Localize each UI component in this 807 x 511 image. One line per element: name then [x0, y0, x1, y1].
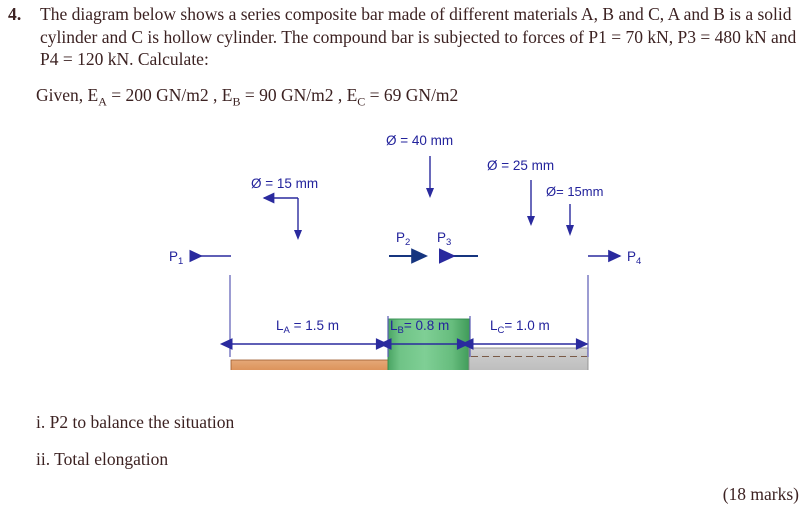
given-value-a: = 200 GN/m2 , E: [107, 85, 233, 105]
force-p2-label: P2: [396, 230, 410, 248]
force-p4-label: P4: [627, 249, 641, 267]
diameter-annotation-c-outer: Ø = 25 mm: [487, 158, 554, 226]
marks-label: (18 marks): [723, 484, 799, 505]
force-arrow-p3: P3: [437, 230, 478, 256]
diameter-annotation-a: Ø = 15 mm: [251, 176, 318, 240]
diameter-c-inner-label: Ø= 15mm: [546, 184, 603, 199]
dimension-length-c: LC= 1.0 m: [472, 318, 587, 344]
given-line: Given, EA = 200 GN/m2 , EB = 90 GN/m2 , …: [36, 84, 458, 106]
given-value-b: = 90 GN/m2 , E: [240, 85, 357, 105]
dimension-length-a: LA = 1.5 m: [231, 318, 387, 344]
question-body: The diagram below shows a series composi…: [40, 3, 802, 71]
bar-a-label: A: [303, 369, 313, 370]
composite-bar-diagram: A B C Ø = 15 mm Ø = 40 mm Ø = 25 mm Ø= 1…: [0, 120, 807, 370]
question-number: 4.: [8, 4, 21, 25]
diameter-b-label: Ø = 40 mm: [386, 133, 453, 148]
length-a-label: LA = 1.5 m: [276, 318, 339, 336]
diameter-annotation-c-inner: Ø= 15mm: [546, 184, 603, 236]
diameter-annotation-b: Ø = 40 mm: [386, 133, 453, 198]
bar-segment-a: A: [231, 360, 390, 370]
bar-c-label: C: [519, 367, 529, 370]
force-arrow-p2: P2: [389, 230, 426, 256]
force-p3-label: P3: [437, 230, 451, 248]
force-p1-label: P1: [169, 249, 183, 267]
diameter-a-label: Ø = 15 mm: [251, 176, 318, 191]
given-prefix: Given, E: [36, 85, 98, 105]
bar-segment-c: C: [469, 348, 588, 370]
length-c-label: LC= 1.0 m: [490, 318, 550, 336]
answer-item-ii: ii. Total elongation: [36, 449, 168, 470]
force-arrow-p1: P1: [169, 249, 231, 267]
diameter-c-outer-label: Ø = 25 mm: [487, 158, 554, 173]
force-arrow-p4: P4: [588, 249, 641, 267]
given-sub-a: A: [98, 95, 107, 109]
answer-item-i: i. P2 to balance the situation: [36, 412, 234, 433]
given-value-c: = 69 GN/m2: [365, 85, 458, 105]
